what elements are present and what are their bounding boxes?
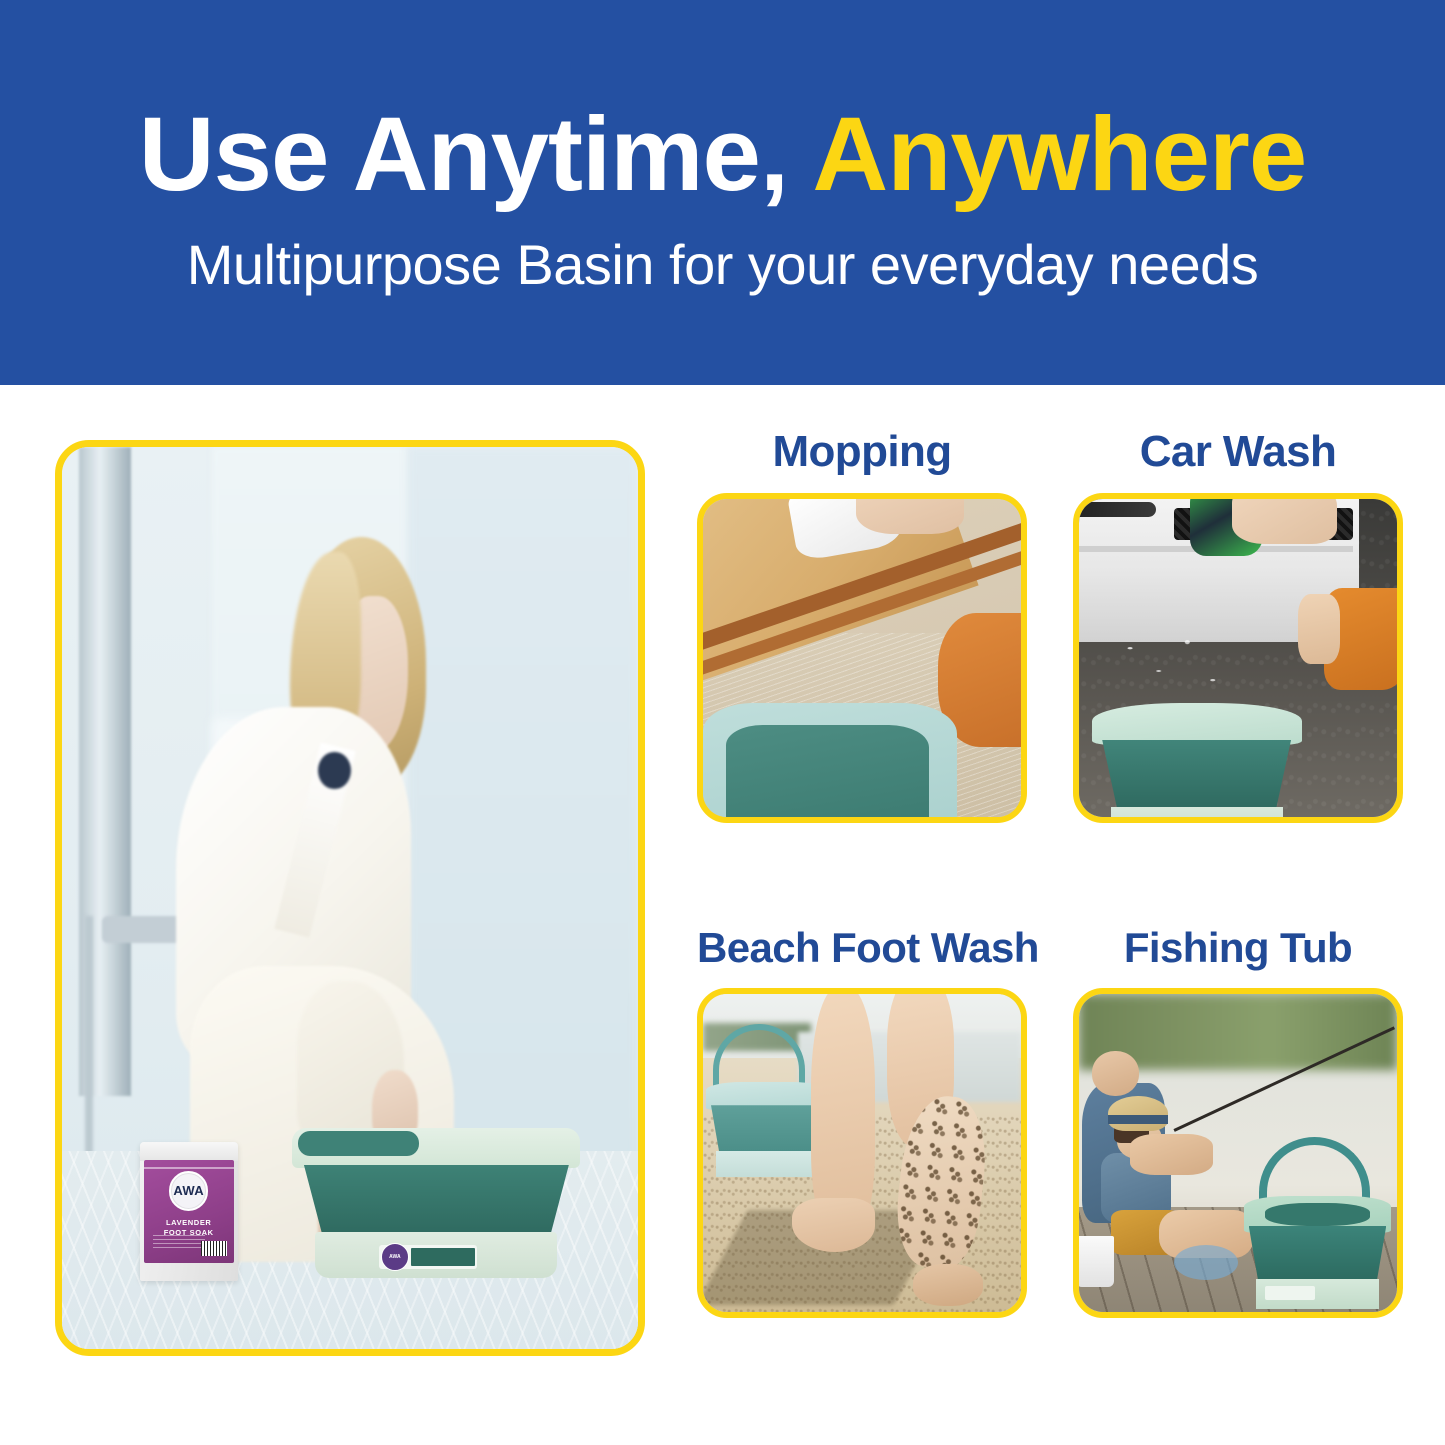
use-case-thumb-car-wash[interactable] (1073, 493, 1403, 823)
headline-primary: Use Anytime, (139, 96, 813, 213)
basin-mopping (703, 703, 957, 823)
awa-seal-icon: AWA (381, 1243, 409, 1271)
mopping-scene (703, 499, 1021, 817)
foot-basin-product: AWA (292, 1128, 580, 1281)
use-case-grid: Mopping Car Wash (690, 430, 1420, 1360)
hat-band (1108, 1115, 1168, 1125)
basin-body (1102, 740, 1291, 809)
use-case-label-car-wash: Car Wash (1073, 430, 1403, 474)
lavender-foot-soak-pouch: AWA LAVENDER FOOT SOAK (140, 1142, 238, 1282)
basin-base (716, 1151, 817, 1176)
man-head (1092, 1051, 1140, 1096)
beachwash-scene (703, 994, 1021, 1312)
page-subtitle: Multipurpose Basin for your everyday nee… (187, 234, 1259, 296)
carwash-scene (1079, 499, 1397, 817)
use-case-label-beach-foot-wash: Beach Foot Wash (697, 927, 1027, 969)
hero-image: AWA LAVENDER FOOT SOAK AWA (55, 440, 645, 1356)
use-case-fishing-tub: Fishing Tub (1073, 927, 1403, 1318)
hand-wiping (856, 493, 964, 534)
basin-rim (1092, 703, 1302, 746)
bait-cup (1076, 1236, 1114, 1287)
use-case-car-wash: Car Wash (1073, 430, 1403, 823)
toes (913, 1264, 983, 1305)
use-case-label-fishing-tub: Fishing Tub (1073, 927, 1403, 969)
fishing-scene (1079, 994, 1397, 1312)
awa-logo-badge: AWA (169, 1171, 209, 1211)
basin-tag-strip (411, 1248, 475, 1266)
water-drips (1111, 633, 1270, 709)
basin-rim-grip (298, 1131, 419, 1156)
basin-body (711, 1105, 822, 1156)
basin-sticker-label: AWA (379, 1245, 477, 1270)
necklace (318, 752, 350, 789)
basin-inner (1265, 1203, 1370, 1226)
use-case-mopping: Mopping (697, 430, 1027, 823)
basin-sticker-label (1265, 1286, 1315, 1301)
basin-fishing (1244, 1147, 1390, 1312)
use-case-thumb-mopping[interactable] (697, 493, 1027, 823)
crouching-leg (1298, 594, 1339, 664)
pouch-line-1: LAVENDER (166, 1218, 212, 1227)
basin-car-wash (1092, 703, 1302, 823)
headlight-icon (1073, 502, 1156, 517)
barcode-icon (201, 1241, 226, 1255)
pouch-fine-print (153, 1235, 205, 1249)
use-case-thumb-beach-foot-wash[interactable] (697, 988, 1027, 1318)
bathroom-scene: AWA LAVENDER FOOT SOAK AWA (62, 447, 638, 1349)
pouch-top-seal (140, 1142, 238, 1162)
use-case-label-mopping: Mopping (697, 430, 1027, 474)
pouch-seal-line (144, 1167, 234, 1169)
page-title: Use Anytime, Anywhere (139, 101, 1306, 208)
use-case-thumb-fishing-tub[interactable] (1073, 988, 1403, 1318)
basin-inner-bowl (726, 725, 930, 823)
basin-collapsible-body (304, 1165, 569, 1236)
straw-hat (1108, 1096, 1168, 1131)
header-banner: Use Anytime, Anywhere Multipurpose Basin… (0, 0, 1445, 385)
hand-washing-car (1232, 493, 1337, 544)
fishing-net (1174, 1245, 1238, 1280)
headline-accent: Anywhere (812, 96, 1306, 213)
basin-body (1249, 1226, 1386, 1282)
basin-beach (706, 1054, 827, 1181)
basin-base (1111, 807, 1283, 823)
left-foot (792, 1198, 875, 1252)
use-case-beach-foot-wash: Beach Foot Wash (697, 927, 1027, 1318)
pouch-front-label: AWA LAVENDER FOOT SOAK (144, 1160, 234, 1263)
